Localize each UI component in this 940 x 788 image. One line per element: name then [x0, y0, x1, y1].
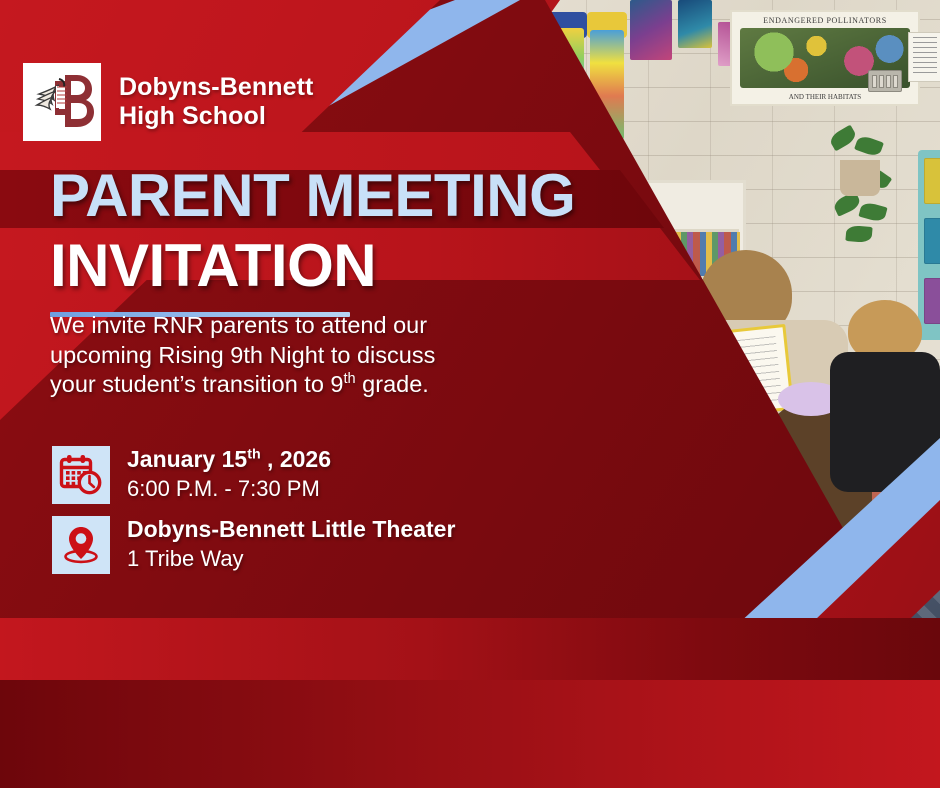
- title-line-2: INVITATION: [50, 236, 575, 296]
- db-monogram-icon: [29, 71, 95, 133]
- bottom-dark-band: [0, 618, 940, 680]
- location-pin-icon: [60, 524, 102, 566]
- student-art-poster-1: [630, 0, 672, 60]
- flyer-title: PARENT MEETING INVITATION: [50, 166, 575, 317]
- event-venue: Dobyns-Bennett Little Theater: [127, 517, 455, 543]
- event-date-post: , 2026: [261, 446, 331, 472]
- event-date: January 15th , 2026: [127, 447, 331, 473]
- location-pin-icon-tile: [52, 516, 110, 574]
- wall-paper-sheet: [908, 32, 940, 82]
- body-line-3-post: grade.: [356, 371, 429, 397]
- title-line-1: PARENT MEETING: [50, 166, 575, 226]
- event-date-text: January 15th , 2026 6:00 P.M. - 7:30 PM: [127, 446, 331, 502]
- event-location-row: Dobyns-Bennett Little Theater 1 Tribe Wa…: [52, 516, 455, 574]
- parent-meeting-invitation-flyer: ENDANGERED POLLINATORS AND THEIR HABITAT…: [0, 0, 940, 788]
- invitation-body-text: We invite RNR parents to attend our upco…: [50, 311, 520, 400]
- student-art-poster-2: [678, 0, 712, 48]
- event-date-row: January 15th , 2026 6:00 P.M. - 7:30 PM: [52, 446, 455, 504]
- plant-pot: [840, 160, 880, 196]
- calendar-clock-icon: [59, 454, 103, 496]
- light-switch-plate: [868, 70, 902, 92]
- event-time: 6:00 P.M. - 7:30 PM: [127, 476, 331, 502]
- brand-header: Dobyns-Bennett High School: [23, 63, 313, 141]
- event-address: 1 Tribe Way: [127, 546, 455, 572]
- poster-subtitle: AND THEIR HABITATS: [732, 93, 918, 101]
- event-details: January 15th , 2026 6:00 P.M. - 7:30 PM …: [52, 446, 455, 586]
- body-line-2: upcoming Rising 9th Night to discuss: [50, 341, 520, 371]
- school-name-line-2: High School: [119, 102, 313, 131]
- body-line-1: We invite RNR parents to attend our: [50, 311, 520, 341]
- calendar-clock-icon-tile: [52, 446, 110, 504]
- body-line-3: your student’s transition to 9th grade.: [50, 370, 520, 400]
- poster-title: ENDANGERED POLLINATORS: [732, 16, 918, 25]
- body-line-3-pre: your student’s transition to 9: [50, 371, 344, 397]
- event-date-pre: January 15: [127, 446, 247, 472]
- body-line-3-ordinal: th: [344, 371, 356, 387]
- school-name-line-1: Dobyns-Bennett: [119, 73, 313, 102]
- school-logo: [23, 63, 101, 141]
- school-name: Dobyns-Bennett High School: [119, 73, 313, 131]
- potted-plant: [830, 130, 900, 280]
- book-display-rack: [918, 150, 940, 340]
- bottom-red-band: [0, 680, 940, 788]
- event-location-text: Dobyns-Bennett Little Theater 1 Tribe Wa…: [127, 516, 455, 572]
- event-date-ordinal: th: [247, 446, 260, 462]
